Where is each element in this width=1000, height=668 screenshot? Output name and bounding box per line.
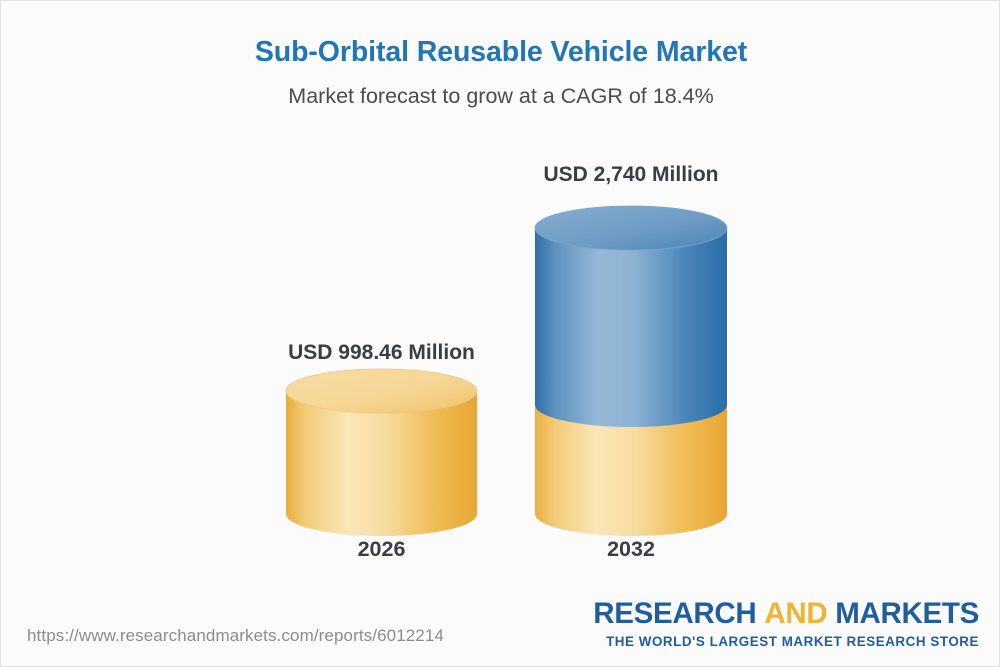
cylinder-top-2032 bbox=[535, 206, 727, 250]
chart-plot-area: USD 998.46 Million bbox=[1, 1, 1000, 668]
logo-word-and: AND bbox=[764, 597, 827, 630]
research-and-markets-logo[interactable]: RESEARCH AND MARKETS THE WORLD'S LARGEST… bbox=[593, 599, 979, 648]
logo-word-research: RESEARCH bbox=[593, 597, 756, 630]
report-url[interactable]: https://www.researchandmarkets.com/repor… bbox=[27, 626, 444, 646]
logo-word-markets: MARKETS bbox=[835, 597, 979, 630]
category-label-2032: 2032 bbox=[535, 537, 727, 562]
logo-wordmark: RESEARCH AND MARKETS bbox=[593, 599, 979, 629]
cylinder-2032 bbox=[535, 163, 727, 533]
logo-tagline: THE WORLD'S LARGEST MARKET RESEARCH STOR… bbox=[593, 635, 979, 648]
cylinder-top-2026 bbox=[286, 369, 477, 413]
cylinder-2026 bbox=[286, 341, 477, 521]
cylinder-segment-blue-2032 bbox=[535, 228, 727, 427]
category-label-2026: 2026 bbox=[286, 537, 477, 562]
infographic-page: Sub-Orbital Reusable Vehicle Market Mark… bbox=[0, 0, 1000, 667]
